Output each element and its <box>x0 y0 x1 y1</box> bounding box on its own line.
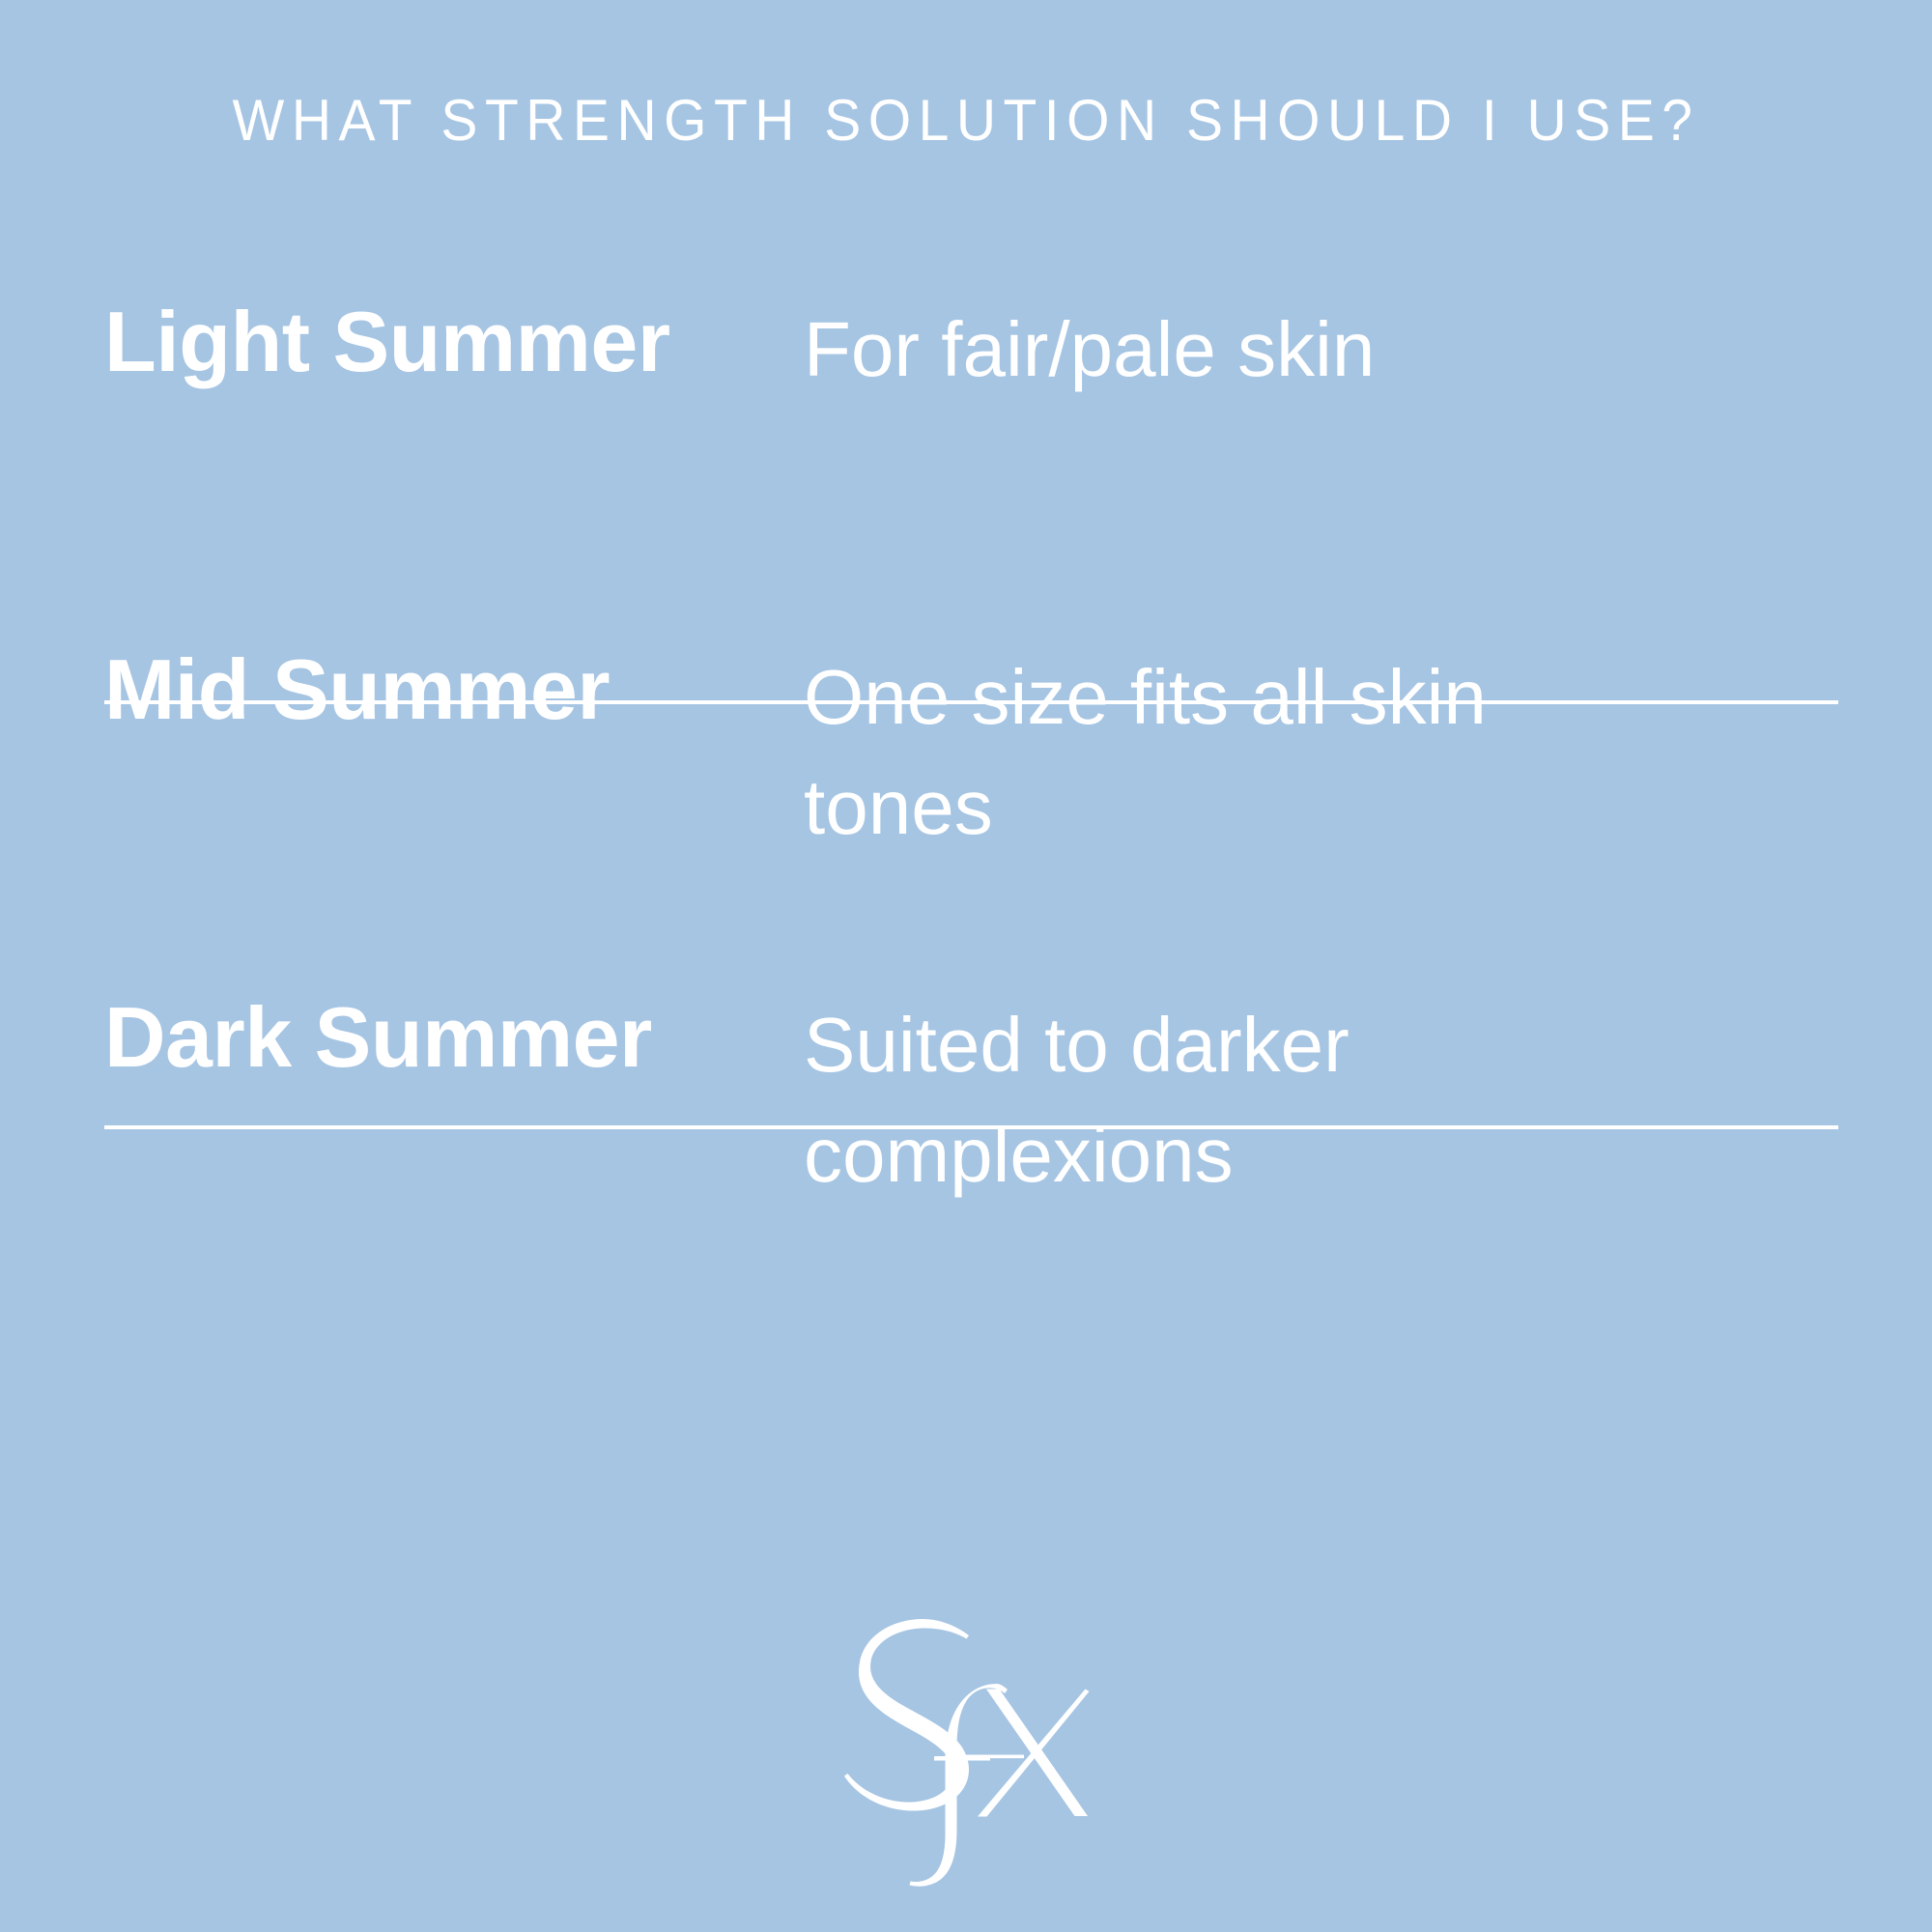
option-description-cell: For fair/pale skin <box>804 295 1770 405</box>
header: WHAT STRENGTH SOLUTION SHOULD I USE? <box>0 0 1932 241</box>
page-title: WHAT STRENGTH SOLUTION SHOULD I USE? <box>233 92 1700 150</box>
option-label-cell: Dark Summer <box>0 990 804 1086</box>
option-label-cell: Light Summer <box>0 295 804 390</box>
option-description-light-summer: For fair/pale skin <box>804 295 1654 405</box>
list-item[interactable]: Dark Summer Suited to darker complexions <box>0 990 1932 1309</box>
option-description-mid-summer: One size fits all skin tones <box>804 642 1654 862</box>
brand-logo <box>0 1555 1932 1932</box>
list-item[interactable]: Mid Summer One size fits all skin tones <box>0 642 1932 961</box>
divider-line-2 <box>104 1125 1838 1129</box>
list-item[interactable]: Light Summer For fair/pale skin <box>0 295 1932 584</box>
option-label-dark-summer: Dark Summer <box>104 990 804 1086</box>
strength-options-list: Light Summer For fair/pale skin Mid Summ… <box>0 241 1932 1546</box>
option-description-dark-summer: Suited to darker complexions <box>804 990 1654 1209</box>
sfx-logo-icon <box>807 1584 1125 1903</box>
option-description-cell: One size fits all skin tones <box>804 642 1770 862</box>
option-label-cell: Mid Summer <box>0 642 804 738</box>
divider-line-1 <box>104 700 1838 704</box>
option-label-mid-summer: Mid Summer <box>104 642 804 738</box>
option-label-light-summer: Light Summer <box>104 295 804 390</box>
option-description-cell: Suited to darker complexions <box>804 990 1770 1209</box>
